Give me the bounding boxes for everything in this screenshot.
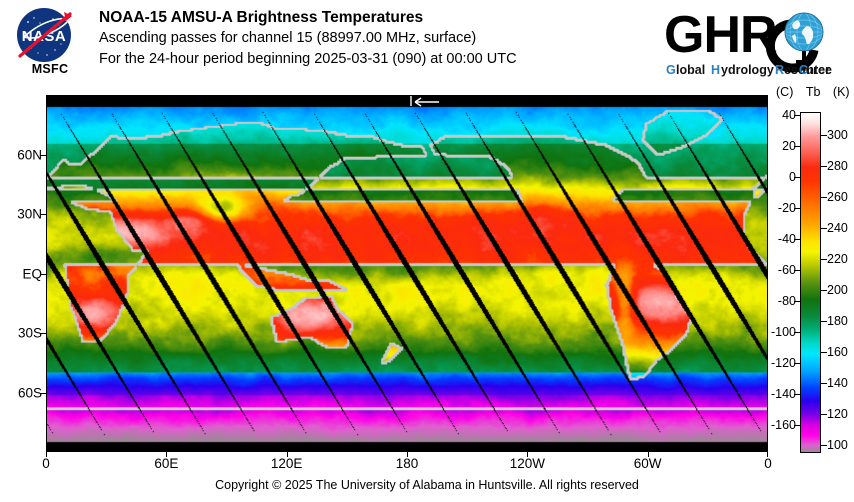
y-tick-label: 60N [17,147,42,162]
y-tick-mark [40,333,46,334]
colorbar-kelvin-tick [821,197,827,198]
colorbar-kelvin-label: 220 [827,252,848,266]
y-tick-label: 30N [17,207,42,222]
colorbar-celsius-label: -140 [771,387,796,401]
colorbar-kelvin-tick [821,445,827,446]
x-tick-label: 120E [271,456,303,471]
colorbar-header: (C) Tb (K) [776,85,854,99]
colorbar-kelvin-tick [821,135,827,136]
colorbar-celsius-tick [794,425,800,426]
colorbar-celsius-label: -100 [771,325,796,339]
colorbar-unit-kelvin: (K) [833,85,850,99]
colorbar-celsius-label: -120 [771,356,796,370]
page-header: NASA MSFC NOAA-15 AMSU-A Brightness Temp… [0,0,854,88]
svg-text:C: C [799,63,808,77]
colorbar-kelvin-label: 200 [827,283,848,297]
colorbar-unit-celsius: (C) [776,85,793,99]
svg-text:lobal: lobal [676,63,705,77]
colorbar-kelvin-tick [821,166,827,167]
colorbar-variable-label: Tb [806,85,821,99]
colorbar-kelvin-label: 240 [827,221,848,235]
colorbar-celsius-tick [794,394,800,395]
x-tick-label: 0 [42,456,50,471]
x-tick-mark [287,452,288,457]
x-tick-mark [767,452,768,457]
colorbar-celsius-tick [794,301,800,302]
colorbar-kelvin-tick [821,228,827,229]
y-tick-label: 60S [18,385,42,400]
colorbar-kelvin-label: 260 [827,190,848,204]
colorbar-kelvin-tick [821,321,827,322]
x-tick-mark [648,452,649,457]
x-tick-mark [46,452,47,457]
x-tick-mark [527,452,528,457]
colorbar-kelvin-tick [821,259,827,260]
colorbar-kelvin-label: 120 [827,407,848,421]
colorbar-gradient [800,112,821,453]
colorbar-celsius-tick [794,332,800,333]
svg-text:GHR: GHR [664,6,777,64]
colorbar-celsius-label: -160 [771,418,796,432]
y-tick-mark [40,155,46,156]
colorbar-kelvin-tick [821,383,827,384]
colorbar-kelvin-label: 280 [827,159,848,173]
copyright-notice: Copyright © 2025 The University of Alaba… [0,478,854,492]
x-tick-mark [407,452,408,457]
svg-text:G: G [666,63,676,77]
x-tick-mark [166,452,167,457]
colorbar-celsius-tick [794,208,800,209]
colorbar-celsius-tick [794,146,800,147]
colorbar-celsius-tick [794,177,800,178]
msfc-label: MSFC [14,62,86,76]
title-block: NOAA-15 AMSU-A Brightness Temperatures A… [99,8,517,70]
x-tick-label: 60W [634,456,662,471]
colorbar-kelvin-tick [821,290,827,291]
colorbar-kelvin-label: 140 [827,376,848,390]
x-tick-label: 60E [154,456,178,471]
colorbar-kelvin-tick [821,414,827,415]
colorbar-kelvin-label: 100 [827,438,848,452]
y-tick-mark [40,393,46,394]
page-title: NOAA-15 AMSU-A Brightness Temperatures [99,8,517,28]
colorbar-celsius-tick [794,363,800,364]
colorbar-celsius-tick [794,239,800,240]
colorbar-kelvin-label: 160 [827,345,848,359]
svg-text:ydrology: ydrology [721,63,774,77]
page-subtitle-channel: Ascending passes for channel 15 (88997.0… [99,28,517,49]
x-tick-label: 0 [764,456,772,471]
svg-text:R: R [775,63,784,77]
colorbar-kelvin-label: 300 [827,128,848,142]
colorbar-kelvin-label: 180 [827,314,848,328]
x-tick-label: 120W [510,456,545,471]
colorbar-kelvin-tick [821,352,827,353]
y-tick-mark [40,274,46,275]
page-subtitle-period: For the 24-hour period beginning 2025-03… [99,49,517,70]
x-tick-label: 180 [396,456,419,471]
y-tick-label: 30S [18,326,42,341]
map-plot-area[interactable] [46,95,768,452]
colorbar: (C) Tb (K) 40200-20-40-60-80-100-120-140… [776,85,854,465]
colorbar-celsius-tick [794,115,800,116]
colorbar-celsius-tick [794,270,800,271]
svg-text:H: H [711,63,720,77]
ghrc-logo: GHR Global Hydrology Resource [664,4,836,78]
brightness-temperature-heatmap [47,96,767,451]
y-tick-mark [40,214,46,215]
